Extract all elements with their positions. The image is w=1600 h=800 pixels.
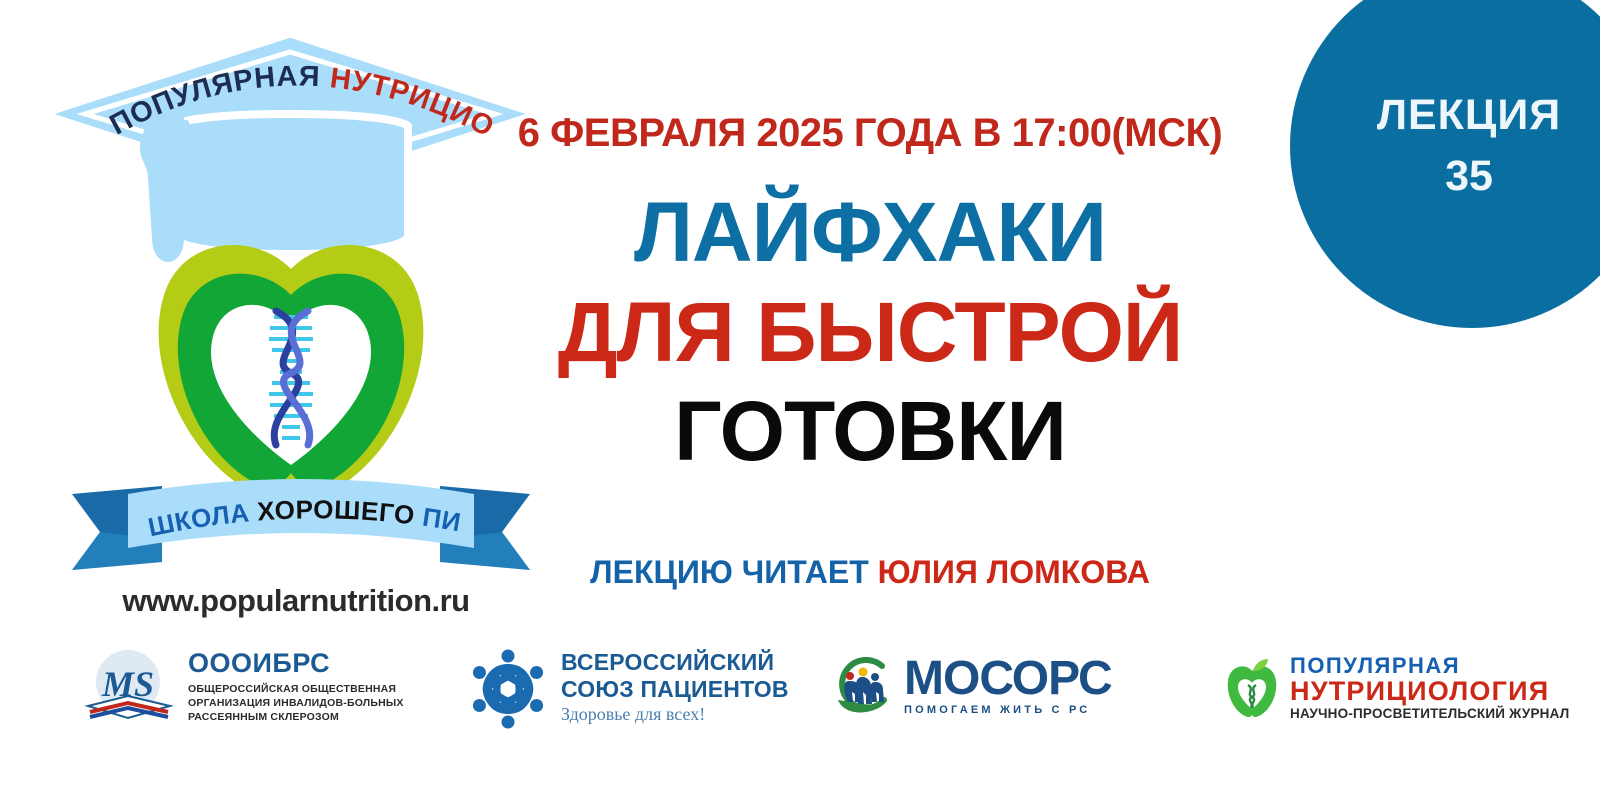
vsp-tagline: Здоровье для всех! bbox=[561, 705, 789, 725]
title-line-3: ГОТОВКИ bbox=[470, 389, 1270, 475]
pn-line-3: НАУЧНО-ПРОСВЕТИТЕЛЬСКИЙ ЖУРНАЛ bbox=[1290, 706, 1569, 722]
mosors-tagline: ПОМОГАЕМ ЖИТЬ С РС bbox=[904, 704, 1112, 716]
partner-logos-row: MS ОООИБРС ОБЩЕРОССИЙСКАЯ ОБЩЕСТВЕННАЯ О… bbox=[0, 640, 1600, 750]
title-line-2: ДЛЯ БЫСТРОЙ bbox=[470, 290, 1270, 376]
oooibrs-text: ОООИБРС ОБЩЕРОССИЙСКАЯ ОБЩЕСТВЕННАЯ ОРГА… bbox=[188, 650, 404, 725]
partner-logo-popular-nutrition[interactable]: ПОПУЛЯРНАЯ НУТРИЦИОЛОГИЯ НАУЧНО-ПРОСВЕТИ… bbox=[1222, 654, 1569, 723]
oooibrs-sub-1: ОБЩЕРОССИЙСКАЯ ОБЩЕСТВЕННАЯ bbox=[188, 682, 404, 696]
ms-circle-icon: MS bbox=[80, 646, 178, 728]
lecture-title: ЛАЙФХАКИ ДЛЯ БЫСТРОЙ ГОТОВКИ bbox=[470, 190, 1270, 475]
event-date-time: 6 ФЕВРАЛЯ 2025 ГОДА В 17:00(МСК) bbox=[470, 112, 1270, 154]
hand-people-icon bbox=[832, 654, 894, 718]
mosors-name: МОСОРС bbox=[904, 656, 1112, 702]
apple-journal-icon bbox=[1222, 655, 1282, 721]
vsp-text: ВСЕРОССИЙСКИЙ СОЮЗ ПАЦИЕНТОВ Здоровье дл… bbox=[561, 649, 789, 725]
oooibrs-sub-3: РАССЕЯННЫМ СКЛЕРОЗОМ bbox=[188, 710, 404, 724]
main-content: 6 ФЕВРАЛЯ 2025 ГОДА В 17:00(МСК) ЛАЙФХАК… bbox=[470, 112, 1270, 475]
lecture-badge-number: 35 bbox=[1445, 155, 1493, 198]
lecture-badge-inner: ЛЕКЦИЯ 35 bbox=[1290, 0, 1590, 328]
pn-line-2: НУТРИЦИОЛОГИЯ bbox=[1290, 677, 1569, 705]
partner-logo-mosors[interactable]: МОСОРС ПОМОГАЕМ ЖИТЬ С РС bbox=[832, 654, 1112, 718]
oooibrs-subtitle: ОБЩЕРОССИЙСКАЯ ОБЩЕСТВЕННАЯ ОРГАНИЗАЦИЯ … bbox=[188, 682, 404, 725]
mosors-text: МОСОРС ПОМОГАЕМ ЖИТЬ С РС bbox=[904, 656, 1112, 717]
people-circle-icon bbox=[465, 642, 551, 732]
partner-logo-oooibrs[interactable]: MS ОООИБРС ОБЩЕРОССИЙСКАЯ ОБЩЕСТВЕННАЯ О… bbox=[80, 646, 404, 728]
popular-nutrition-text: ПОПУЛЯРНАЯ НУТРИЦИОЛОГИЯ НАУЧНО-ПРОСВЕТИ… bbox=[1290, 654, 1569, 723]
title-line-1: ЛАЙФХАКИ bbox=[470, 190, 1270, 276]
oooibrs-name: ОООИБРС bbox=[188, 650, 404, 677]
oooibrs-sub-2: ОРГАНИЗАЦИЯ ИНВАЛИДОВ-БОЛЬНЫХ bbox=[188, 696, 404, 710]
lecture-number-badge: ЛЕКЦИЯ 35 bbox=[1290, 0, 1600, 328]
pn-line-1: ПОПУЛЯРНАЯ bbox=[1290, 654, 1569, 677]
partner-logo-vsp[interactable]: ВСЕРОССИЙСКИЙ СОЮЗ ПАЦИЕНТОВ Здоровье дл… bbox=[465, 642, 789, 732]
vsp-name-1: ВСЕРОССИЙСКИЙ bbox=[561, 649, 789, 676]
speaker-name: ЮЛИЯ ЛОМКОВА bbox=[878, 554, 1150, 590]
speaker-prefix: ЛЕКЦИЮ ЧИТАЕТ bbox=[590, 554, 869, 590]
graduation-cap-icon: ПОПУЛЯРНАЯ НУТРИЦИОЛОГИЯ bbox=[40, 28, 540, 268]
website-url[interactable]: www.popularnutrition.ru bbox=[86, 583, 506, 619]
vsp-name-2: СОЮЗ ПАЦИЕНТОВ bbox=[561, 676, 789, 703]
speaker-line: ЛЕКЦИЮ ЧИТАЕТ ЮЛИЯ ЛОМКОВА bbox=[470, 554, 1270, 591]
lecture-badge-label: ЛЕКЦИЯ bbox=[1377, 94, 1561, 137]
ribbon-banner: ШКОЛА ХОРОШЕГО ПИТАНИЯ bbox=[66, 458, 536, 573]
brand-logo: ПОПУЛЯРНАЯ НУТРИЦИОЛОГИЯ bbox=[26, 18, 536, 578]
poster-canvas: ЛЕКЦИЯ 35 bbox=[0, 0, 1600, 800]
